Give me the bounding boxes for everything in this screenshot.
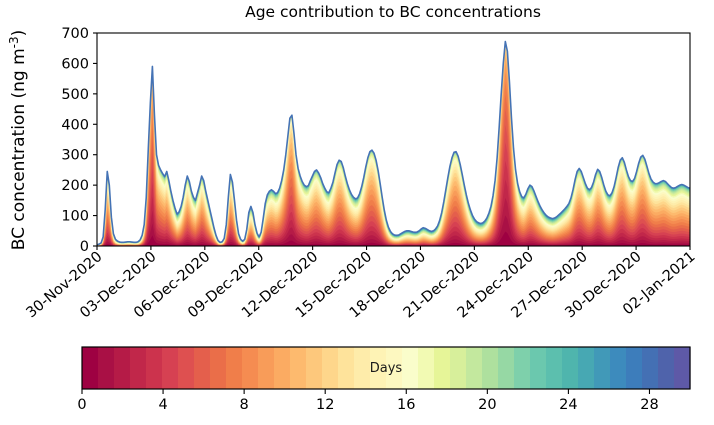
y-axis-title: BC concentration (ng m-3) — [7, 30, 29, 251]
colorbar-swatch — [274, 347, 291, 389]
colorbar-swatch — [418, 347, 435, 389]
colorbar-swatch — [498, 347, 515, 389]
colorbar-swatch — [130, 347, 147, 389]
colorbar-swatch — [98, 347, 115, 389]
colorbar-swatch — [610, 347, 627, 389]
y-axis-title-tail: ) — [9, 30, 29, 37]
colorbar-swatch — [258, 347, 275, 389]
colorbar-swatch — [466, 347, 483, 389]
colorbar-swatch — [530, 347, 547, 389]
colorbar-swatch — [82, 347, 99, 389]
colorbar-swatch — [642, 347, 659, 389]
figure-container: Age contribution to BC concentrations BC… — [0, 0, 714, 425]
colorbar-swatch — [114, 347, 131, 389]
y-tick-label: 0 — [80, 239, 89, 255]
colorbar-swatch — [434, 347, 451, 389]
y-tick-label: 300 — [61, 148, 89, 164]
colorbar-swatch — [242, 347, 259, 389]
colorbar-swatch — [354, 347, 371, 389]
colorbar-tick-label: 16 — [397, 397, 415, 413]
colorbar-swatch — [514, 347, 531, 389]
svg-text:BC concentration (ng m-3): BC concentration (ng m-3) — [7, 30, 29, 251]
colorbar-swatch — [338, 347, 355, 389]
colorbar-swatch — [594, 347, 611, 389]
colorbar-swatch — [226, 347, 243, 389]
colorbar-tick-label: 8 — [240, 397, 249, 413]
colorbar-label: Days — [370, 361, 403, 376]
colorbar-swatch — [658, 347, 675, 389]
colorbar-tick-label: 24 — [559, 397, 577, 413]
colorbar-tick-label: 4 — [158, 397, 167, 413]
colorbar-swatch — [322, 347, 339, 389]
colorbar-swatch — [178, 347, 195, 389]
colorbar-swatch — [626, 347, 643, 389]
colorbar-tick-label: 28 — [640, 397, 658, 413]
y-axis-title-superscript: -3 — [7, 36, 21, 48]
colorbar-swatch — [290, 347, 307, 389]
y-tick-label: 200 — [61, 178, 89, 194]
colorbar-swatch — [306, 347, 323, 389]
colorbar-swatch — [578, 347, 595, 389]
chart-svg: Age contribution to BC concentrations BC… — [0, 0, 714, 425]
colorbar-swatch — [402, 347, 419, 389]
colorbar-swatch — [162, 347, 179, 389]
colorbar-swatch — [146, 347, 163, 389]
y-tick-label: 400 — [61, 117, 89, 133]
colorbar-swatch — [562, 347, 579, 389]
colorbar-swatch — [194, 347, 211, 389]
colorbar-tick-label: 0 — [77, 397, 86, 413]
colorbar-tick-label: 20 — [478, 397, 496, 413]
colorbar-swatch — [210, 347, 227, 389]
colorbar-swatch — [450, 347, 467, 389]
colorbar-swatch — [546, 347, 563, 389]
colorbar-tick-label: 12 — [316, 397, 334, 413]
y-tick-label: 500 — [61, 87, 89, 103]
y-tick-label: 600 — [61, 56, 89, 72]
y-axis-title-text: BC concentration (ng m — [9, 48, 29, 250]
y-tick-label: 100 — [61, 209, 89, 225]
colorbar-swatch — [482, 347, 499, 389]
colorbar-swatch — [674, 347, 691, 389]
chart-title: Age contribution to BC concentrations — [245, 3, 541, 21]
y-tick-label: 700 — [61, 26, 89, 42]
